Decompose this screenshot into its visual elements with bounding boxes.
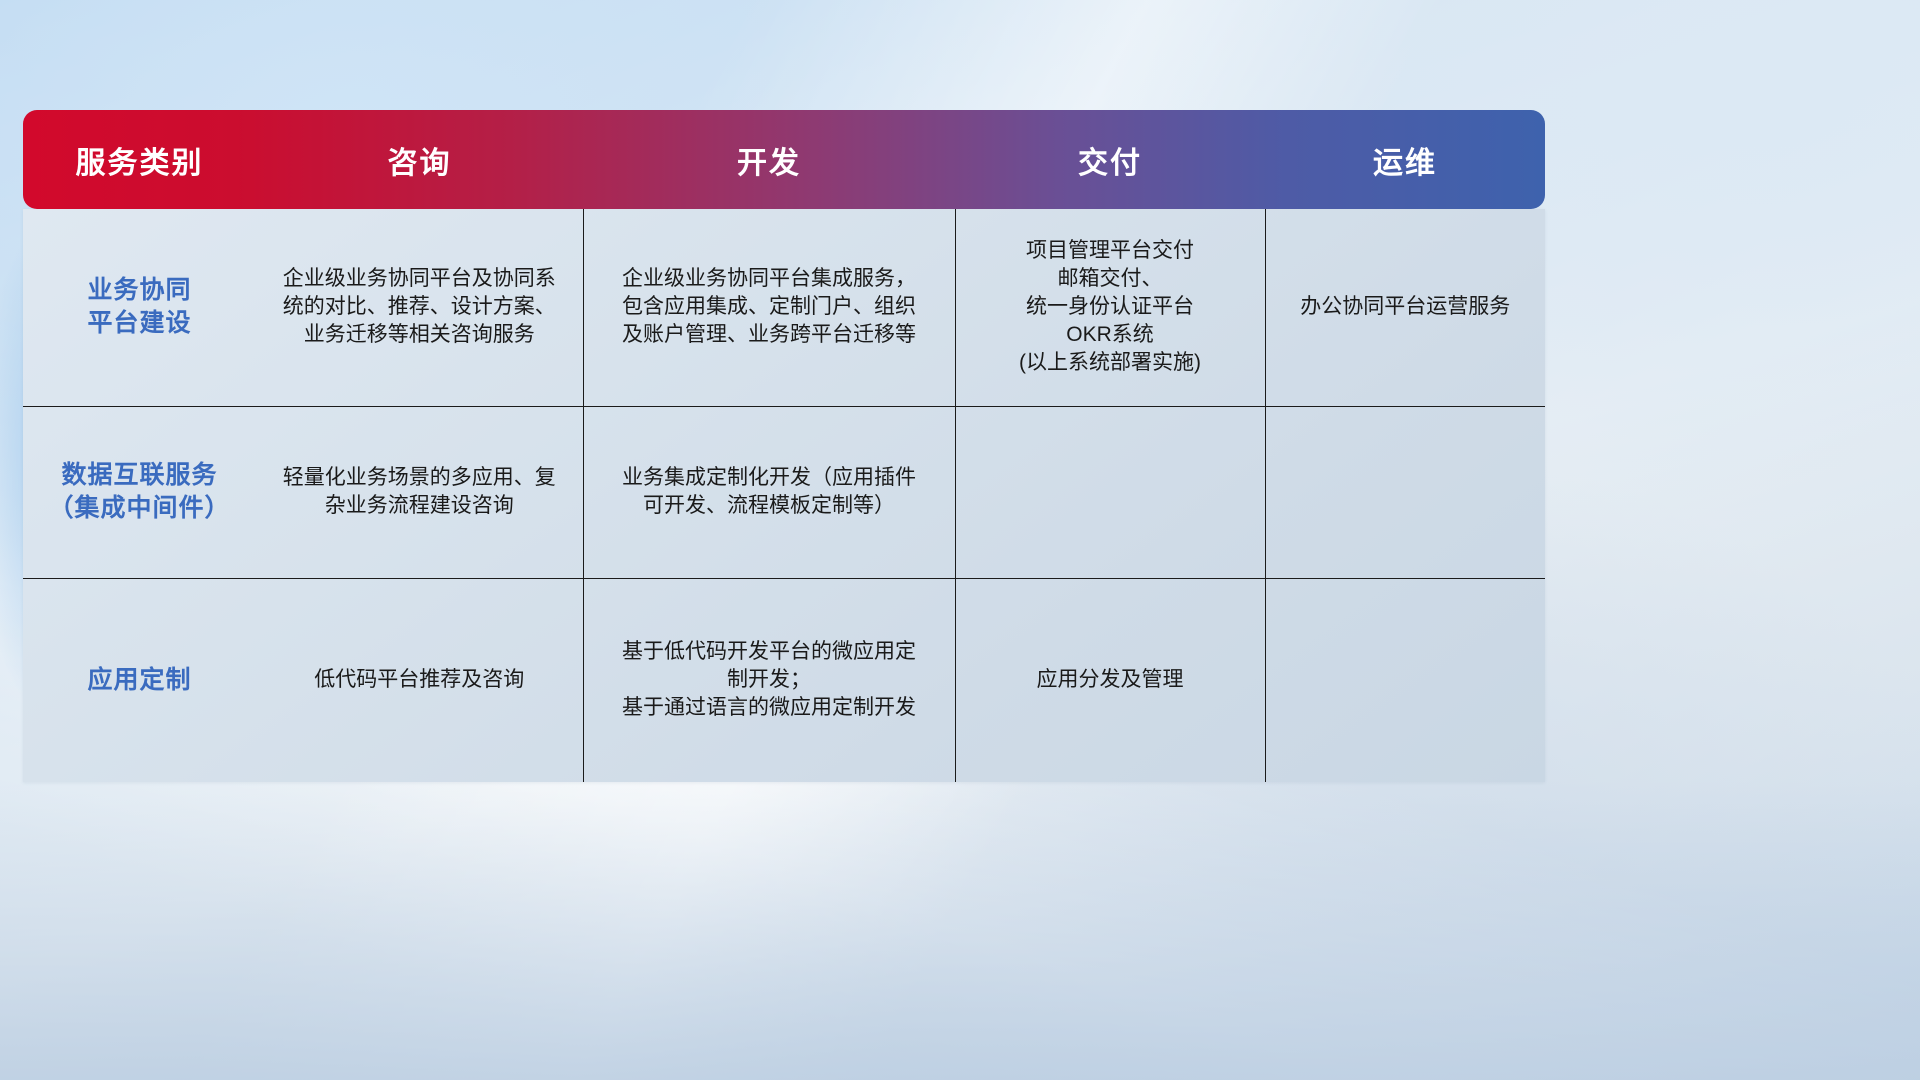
cell-category[interactable]: 应用定制 [23,578,256,782]
cell-category[interactable]: 数据互联服务（集成中间件） [23,406,256,578]
cell-operations[interactable]: 办公协同平台运营服务 [1265,209,1545,406]
table-row: 数据互联服务（集成中间件）轻量化业务场景的多应用、复杂业务流程建设咨询业务集成定… [23,406,1545,578]
cell-line: 应用定制 [37,664,242,697]
column-header-operations[interactable]: 运维 [1265,110,1545,209]
cell-line: 业务集成定制化开发（应用插件 [598,464,941,492]
cell-development[interactable]: 基于低代码开发平台的微应用定制开发；基于通过语言的微应用定制开发 [583,578,955,782]
cell-line: 平台建设 [37,307,242,340]
cell-line: （集成中间件） [37,492,242,525]
cell-line: 低代码平台推荐及咨询 [270,666,569,694]
cell-line: 可开发、流程模板定制等） [598,492,941,520]
cell-line: 及账户管理、业务跨平台迁移等 [598,321,941,349]
cell-line: 办公协同平台运营服务 [1280,293,1532,321]
column-header-development[interactable]: 开发 [583,110,955,209]
cell-development[interactable]: 业务集成定制化开发（应用插件可开发、流程模板定制等） [583,406,955,578]
cell-delivery[interactable]: 项目管理平台交付邮箱交付、统一身份认证平台OKR系统(以上系统部署实施) [955,209,1265,406]
cell-operations [1265,578,1545,782]
cell-line: 应用分发及管理 [970,666,1251,694]
service-matrix-table: 服务类别 咨询 开发 交付 运维 业务协同平台建设企业级业务协同平台及协同系统的… [23,110,1545,782]
cell-line: 制开发； [598,666,941,694]
cell-line: 业务迁移等相关咨询服务 [270,321,569,349]
cell-delivery[interactable]: 应用分发及管理 [955,578,1265,782]
column-header-category[interactable]: 服务类别 [23,110,256,209]
cell-line: (以上系统部署实施) [970,349,1251,377]
cell-line: 杂业务流程建设咨询 [270,492,569,520]
cell-line: 企业级业务协同平台及协同系 [270,265,569,293]
cell-consulting[interactable]: 企业级业务协同平台及协同系统的对比、推荐、设计方案、业务迁移等相关咨询服务 [256,209,583,406]
background-bottom-fade [0,780,1920,1080]
cell-line: 基于低代码开发平台的微应用定 [598,638,941,666]
cell-line: 企业级业务协同平台集成服务， [598,265,941,293]
cell-line: OKR系统 [970,321,1251,349]
cell-consulting[interactable]: 低代码平台推荐及咨询 [256,578,583,782]
cell-operations [1265,406,1545,578]
cell-line: 数据互联服务 [37,459,242,492]
cell-line: 轻量化业务场景的多应用、复 [270,464,569,492]
table-header-row: 服务类别 咨询 开发 交付 运维 [23,110,1545,209]
cell-development[interactable]: 企业级业务协同平台集成服务，包含应用集成、定制门户、组织及账户管理、业务跨平台迁… [583,209,955,406]
cell-line: 基于通过语言的微应用定制开发 [598,694,941,722]
column-header-delivery[interactable]: 交付 [955,110,1265,209]
cell-line: 包含应用集成、定制门户、组织 [598,293,941,321]
service-matrix-table-wrapper: 服务类别 咨询 开发 交付 运维 业务协同平台建设企业级业务协同平台及协同系统的… [23,110,1545,782]
cell-line: 邮箱交付、 [970,265,1251,293]
column-header-consulting[interactable]: 咨询 [256,110,583,209]
table-body: 业务协同平台建设企业级业务协同平台及协同系统的对比、推荐、设计方案、业务迁移等相… [23,209,1545,782]
cell-line: 统一身份认证平台 [970,293,1251,321]
cell-consulting[interactable]: 轻量化业务场景的多应用、复杂业务流程建设咨询 [256,406,583,578]
table-row: 业务协同平台建设企业级业务协同平台及协同系统的对比、推荐、设计方案、业务迁移等相… [23,209,1545,406]
cell-category[interactable]: 业务协同平台建设 [23,209,256,406]
cell-line: 业务协同 [37,274,242,307]
table-header: 服务类别 咨询 开发 交付 运维 [23,110,1545,209]
cell-line: 统的对比、推荐、设计方案、 [270,293,569,321]
cell-line: 项目管理平台交付 [970,237,1251,265]
cell-delivery [955,406,1265,578]
table-row: 应用定制低代码平台推荐及咨询基于低代码开发平台的微应用定制开发；基于通过语言的微… [23,578,1545,782]
